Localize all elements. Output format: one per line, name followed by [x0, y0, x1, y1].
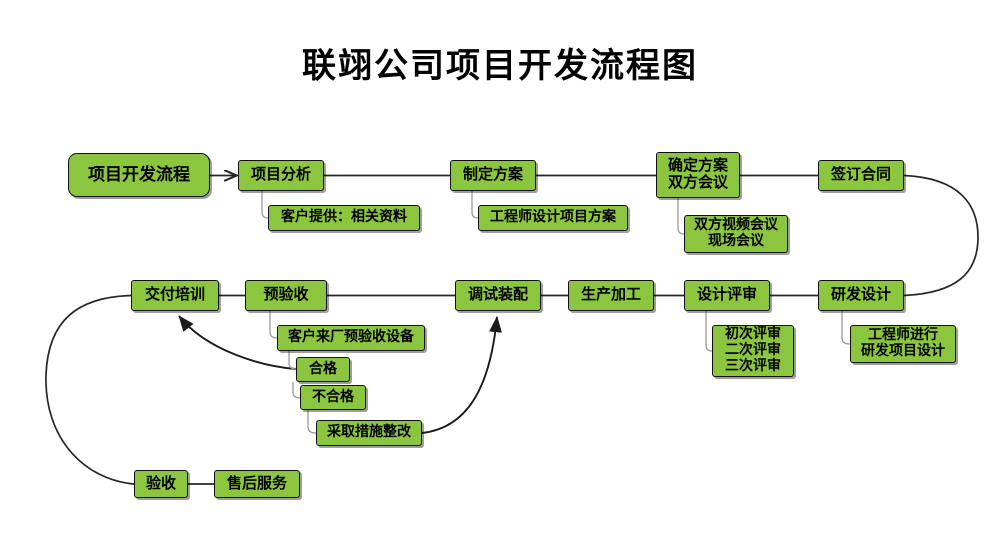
wire-rectify-to-assemble [422, 317, 497, 433]
node-label: 设计评审 [693, 287, 761, 304]
elbow-preaccept-note [270, 311, 277, 338]
node-pre-acceptance[interactable]: 预验收 [245, 280, 327, 311]
node-label: 调试装配 [464, 287, 532, 304]
node-delivery-training[interactable]: 交付培训 [131, 280, 219, 311]
node-unqualified[interactable]: 不合格 [300, 385, 366, 410]
node-project-analysis[interactable]: 项目分析 [238, 160, 324, 191]
node-take-corrective-measures[interactable]: 采取措施整改 [316, 420, 422, 446]
elbow-pass-to-fail [293, 382, 300, 398]
node-production-processing[interactable]: 生产加工 [568, 280, 654, 311]
node-engineer-designs-plan[interactable]: 工程师设计项目方案 [478, 205, 628, 231]
node-label: 项目分析 [247, 167, 315, 184]
node-label: 制定方案 [459, 167, 527, 184]
node-label: 双方视频会议 现场会议 [690, 218, 782, 249]
node-confirm-plan-meeting[interactable]: 确定方案 双方会议 [656, 152, 740, 198]
node-sign-contract[interactable]: 签订合同 [818, 160, 904, 191]
node-label: 交付培训 [141, 287, 209, 304]
node-acceptance[interactable]: 验收 [134, 470, 188, 498]
node-label: 采取措施整改 [323, 425, 415, 441]
node-label: 工程师进行 研发项目设计 [857, 328, 949, 359]
node-label: 工程师设计项目方案 [486, 210, 620, 226]
node-video-or-onsite-meeting[interactable]: 双方视频会议 现场会议 [684, 215, 788, 253]
node-label: 研发设计 [827, 287, 895, 304]
node-label: 售后服务 [223, 476, 291, 493]
node-label: 合格 [305, 362, 341, 378]
node-project-development-flow[interactable]: 项目开发流程 [68, 153, 210, 197]
node-label: 生产加工 [577, 287, 645, 304]
elbow-note-to-pass [289, 351, 296, 369]
node-label: 确定方案 双方会议 [664, 158, 732, 192]
node-qualified[interactable]: 合格 [296, 357, 350, 382]
node-debug-assembly[interactable]: 调试装配 [455, 280, 541, 311]
node-customer-provides-materials[interactable]: 客户提供：相关资料 [268, 205, 420, 231]
flowchart-canvas: 联翊公司项目开发流程图 [0, 0, 1000, 541]
node-label: 预验收 [259, 287, 312, 304]
node-label: 验收 [142, 476, 180, 493]
node-label: 客户提供：相关资料 [277, 210, 411, 226]
elbow-rnd-note [842, 311, 850, 344]
elbow-fail-to-rectify [308, 410, 316, 433]
node-label: 不合格 [308, 390, 358, 406]
node-label: 签订合同 [827, 167, 895, 184]
wire-handover-to-accept [46, 296, 134, 485]
node-label: 客户来厂预验收设备 [284, 330, 418, 346]
page-title: 联翊公司项目开发流程图 [0, 38, 1000, 87]
node-engineer-rnd-project-design[interactable]: 工程师进行 研发项目设计 [850, 325, 956, 363]
node-customer-factory-pre-acceptance[interactable]: 客户来厂预验收设备 [277, 325, 425, 351]
wire-contract-to-rnd [904, 176, 978, 296]
node-label: 项目开发流程 [84, 165, 194, 184]
node-formulate-plan[interactable]: 制定方案 [450, 160, 536, 191]
node-design-review[interactable]: 设计评审 [684, 280, 770, 311]
node-review-rounds[interactable]: 初次评审 二次评审 三次评审 [712, 325, 794, 377]
node-label: 初次评审 二次评审 三次评审 [721, 327, 785, 374]
node-after-sales-service[interactable]: 售后服务 [214, 470, 300, 498]
node-rnd-design[interactable]: 研发设计 [818, 280, 904, 311]
